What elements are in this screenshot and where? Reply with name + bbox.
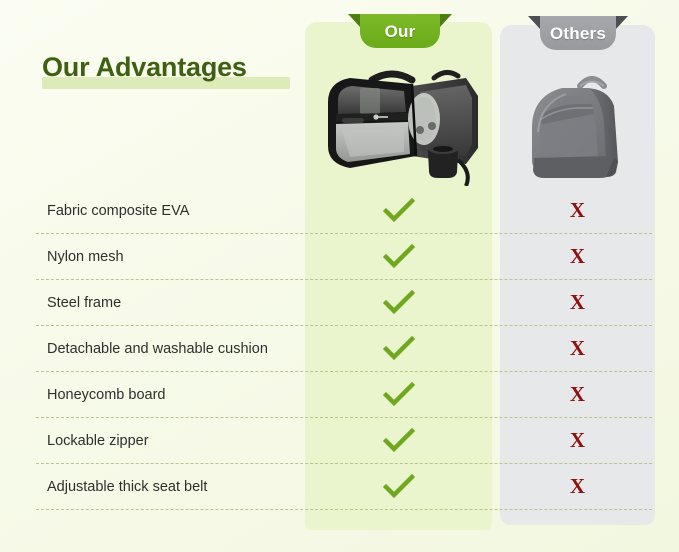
feature-label: Honeycomb board [47, 387, 166, 403]
table-row: Steel frame X [36, 280, 652, 326]
feature-mark-others: X [500, 476, 655, 497]
product-image-others [518, 58, 642, 186]
feature-mark-others: X [500, 384, 655, 405]
column-header-ours: Our [348, 14, 452, 48]
feature-mark-others: X [500, 200, 655, 221]
feature-label: Adjustable thick seat belt [47, 479, 207, 495]
feature-mark-ours [305, 474, 492, 500]
check-icon [383, 336, 415, 362]
table-row: Honeycomb board X [36, 372, 652, 418]
product-image-ours [316, 56, 484, 186]
column-header-label-others: Others [550, 25, 606, 42]
comparison-chart: Our Advantages Our Others [0, 0, 679, 552]
x-icon: X [570, 292, 585, 313]
feature-rows: Fabric composite EVA X Nylon mesh X [36, 188, 652, 510]
check-icon [383, 428, 415, 454]
feature-mark-ours [305, 244, 492, 270]
x-icon: X [570, 338, 585, 359]
x-icon: X [570, 430, 585, 451]
ribbon-fold-right-icon [439, 14, 452, 28]
check-icon [383, 290, 415, 316]
ribbon-banner-ours: Our [360, 14, 440, 48]
column-header-label-ours: Our [385, 23, 416, 40]
ribbon-banner-others: Others [540, 16, 616, 50]
feature-mark-others: X [500, 292, 655, 313]
x-icon: X [570, 476, 585, 497]
feature-mark-others: X [500, 338, 655, 359]
feature-label: Nylon mesh [47, 249, 124, 265]
table-row: Fabric composite EVA X [36, 188, 652, 234]
feature-mark-ours [305, 336, 492, 362]
feature-mark-ours [305, 198, 492, 224]
feature-mark-ours [305, 290, 492, 316]
feature-mark-others: X [500, 246, 655, 267]
x-icon: X [570, 200, 585, 221]
table-row: Detachable and washable cushion X [36, 326, 652, 372]
table-row: Nylon mesh X [36, 234, 652, 280]
page-title: Our Advantages [42, 52, 247, 83]
check-icon [383, 244, 415, 270]
check-icon [383, 198, 415, 224]
column-header-others: Others [528, 16, 628, 50]
feature-label: Fabric composite EVA [47, 203, 189, 219]
check-icon [383, 474, 415, 500]
ribbon-fold-right-icon [615, 16, 628, 30]
feature-label: Steel frame [47, 295, 121, 311]
feature-mark-ours [305, 428, 492, 454]
table-row: Adjustable thick seat belt X [36, 464, 652, 510]
feature-mark-others: X [500, 430, 655, 451]
x-icon: X [570, 384, 585, 405]
table-row: Lockable zipper X [36, 418, 652, 464]
feature-label: Detachable and washable cushion [47, 341, 268, 357]
title-text: Our Advantages [42, 52, 247, 83]
check-icon [383, 382, 415, 408]
x-icon: X [570, 246, 585, 267]
feature-mark-ours [305, 382, 492, 408]
feature-label: Lockable zipper [47, 433, 149, 449]
